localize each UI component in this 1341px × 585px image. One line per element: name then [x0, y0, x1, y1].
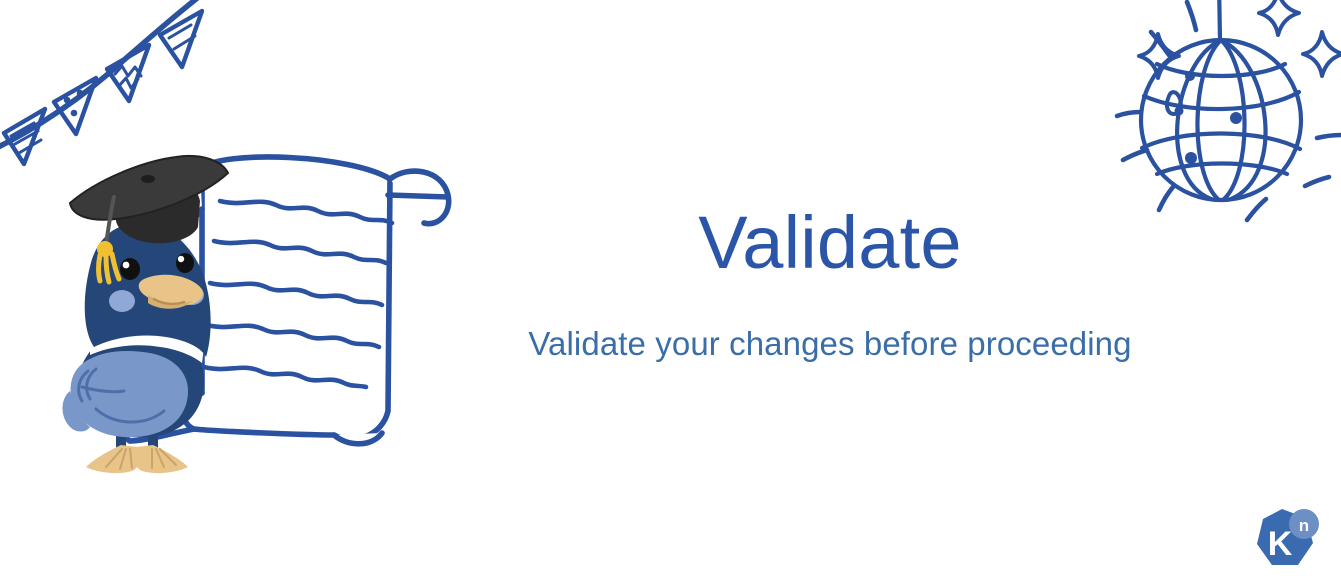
page-subtitle: Validate your changes before proceeding	[470, 280, 1190, 362]
bunting-flag-plain	[160, 11, 202, 67]
graduate-bird-with-scroll	[52, 135, 462, 475]
sparkle-icon	[1139, 0, 1341, 78]
disco-facet-ring	[1167, 92, 1181, 114]
slide-canvas: Validate Validate your changes before pr…	[0, 0, 1341, 585]
bird-cheek-left	[109, 290, 135, 312]
hero-text-block: Validate Validate your changes before pr…	[470, 206, 1190, 362]
page-title: Validate	[470, 206, 1190, 280]
disco-ball	[1099, 0, 1341, 238]
logo-letter-n: n	[1299, 516, 1309, 535]
disco-rays	[1117, 2, 1341, 220]
bunting-flag-stripes	[4, 109, 45, 164]
kn-logo[interactable]: K n	[1249, 503, 1323, 577]
logo-letter-k: K	[1268, 525, 1293, 563]
disco-facet-dots	[1175, 71, 1243, 164]
bunting-flag-dots	[54, 78, 96, 134]
bunting-flag-zigzag	[107, 45, 149, 101]
